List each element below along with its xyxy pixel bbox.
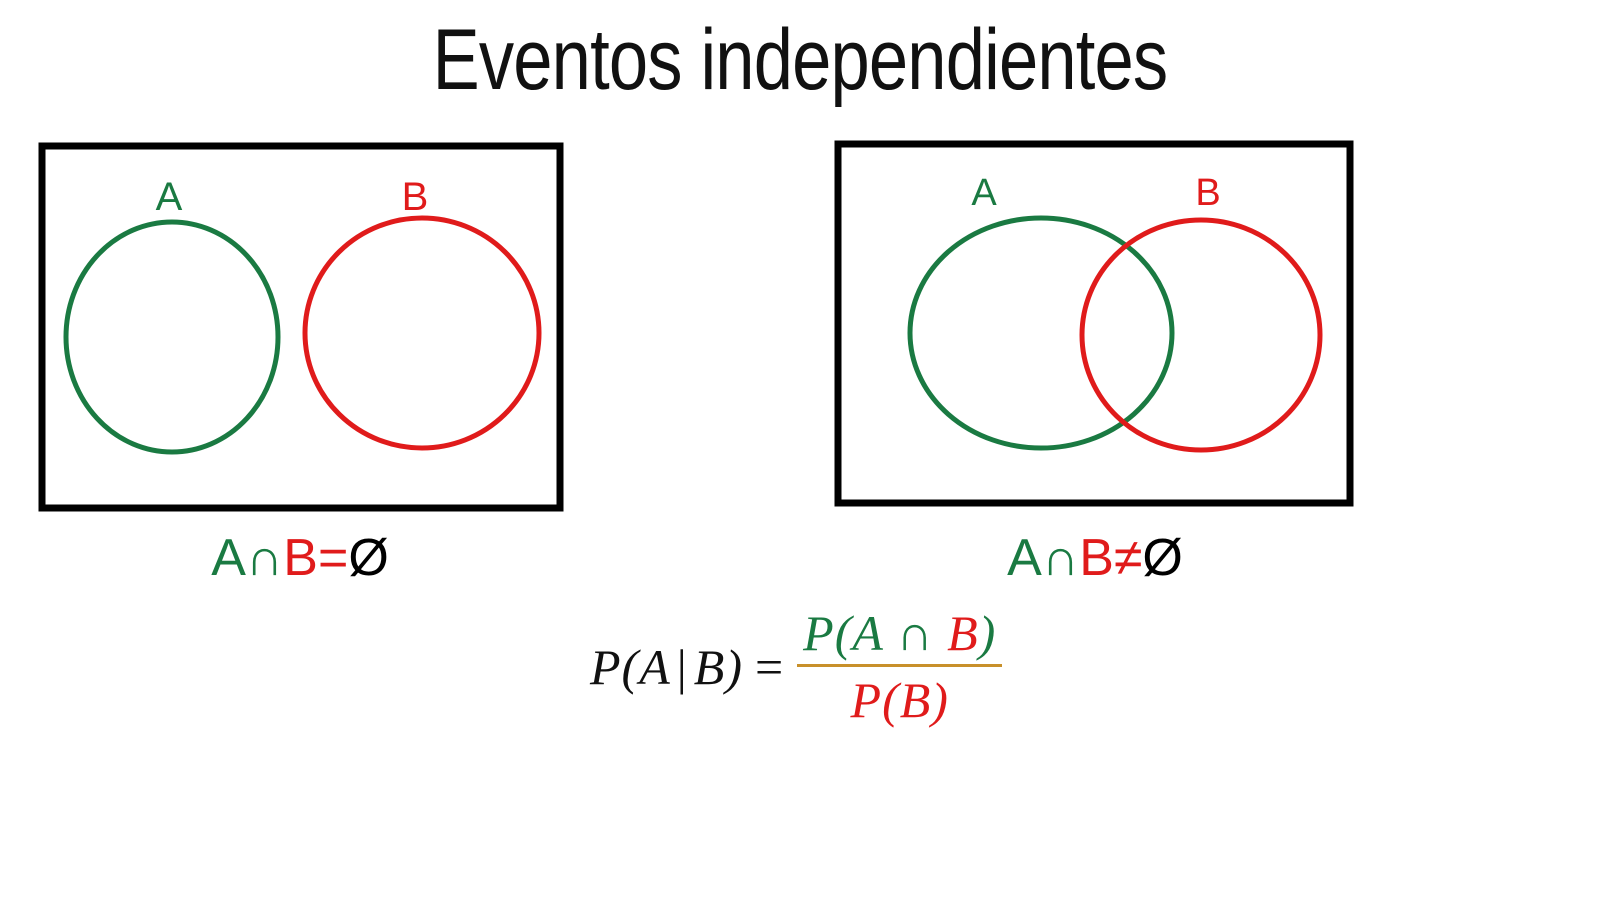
- venn-diagram-overlapping: A B: [832, 139, 1360, 513]
- intersection-symbol-icon: ∩: [1042, 529, 1079, 587]
- caption-overlap-relation: ≠: [1114, 529, 1143, 587]
- formula-lhs-p: P: [590, 639, 622, 695]
- formula-lhs-close: ): [725, 639, 743, 695]
- caption-overlap: A∩B≠Ø: [840, 528, 1350, 588]
- venn-diagram-disjoint: A B: [38, 142, 566, 516]
- intersection-symbol-icon: ∩: [246, 529, 283, 587]
- label-set-a: A: [156, 175, 183, 219]
- caption-overlap-set-b: B: [1079, 529, 1114, 587]
- page-title: Eventos independientes: [144, 10, 1456, 110]
- caption-disjoint: A∩B=Ø: [45, 528, 555, 588]
- caption-disjoint-set-b: B: [283, 529, 318, 587]
- formula-given-bar-icon: |: [671, 639, 694, 695]
- label-set-b: B: [1195, 172, 1220, 214]
- label-set-b: B: [402, 175, 429, 219]
- venn-disjoint-svg: A B: [38, 142, 566, 516]
- empty-set-symbol-icon: Ø: [348, 529, 388, 587]
- empty-set-symbol-icon: Ø: [1142, 529, 1182, 587]
- formula-numerator-suffix: ): [979, 605, 997, 661]
- universe-box: [42, 146, 560, 508]
- formula-fraction: P(A ∩ B) P(B): [797, 608, 1002, 725]
- caption-disjoint-set-a: A: [211, 529, 246, 587]
- caption-disjoint-relation: =: [318, 529, 348, 587]
- conditional-probability-formula: P(A|B) = P(A ∩ B) P(B): [590, 608, 1002, 725]
- formula-equals-sign: =: [755, 642, 783, 692]
- formula-lhs-open: (: [622, 639, 640, 695]
- formula-numerator: P(A ∩ B): [797, 608, 1002, 664]
- formula-denominator: P(B): [845, 667, 955, 725]
- formula-lhs-a: A: [639, 639, 671, 695]
- universe-box: [838, 144, 1350, 503]
- formula-lhs-b: B: [694, 639, 726, 695]
- caption-overlap-set-a: A: [1007, 529, 1042, 587]
- formula-numerator-set-b: B: [947, 605, 979, 661]
- formula-left-hand-side: P(A|B): [590, 642, 743, 692]
- formula-numerator-prefix: P(A ∩: [803, 605, 947, 661]
- label-set-a: A: [971, 172, 997, 214]
- venn-overlap-svg: A B: [832, 139, 1360, 513]
